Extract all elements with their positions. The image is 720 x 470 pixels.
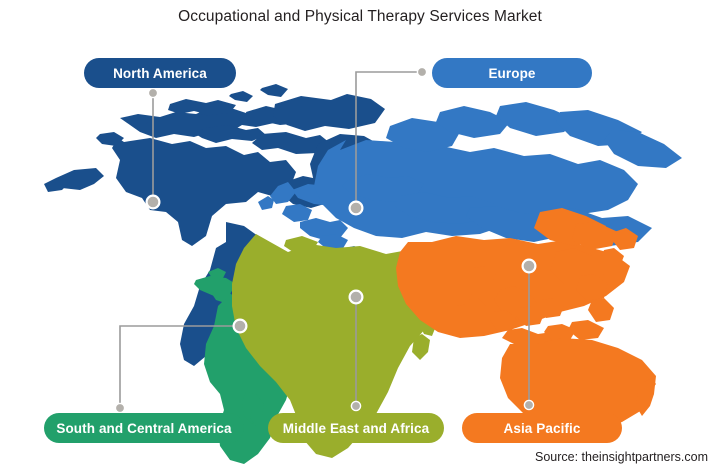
region-label-asia-pacific[interactable]: Asia Pacific — [462, 413, 622, 443]
marker-dot-north-america-map — [147, 196, 160, 209]
market-map-infographic: Occupational and Physical Therapy Servic… — [0, 0, 720, 470]
region-shape-asia-pacific[interactable] — [396, 208, 656, 432]
marker-dot-asia-pacific-map — [523, 260, 536, 273]
marker-dot-south-and-central-america-map — [234, 320, 247, 333]
region-label-middle-east-and-africa[interactable]: Middle East and Africa — [268, 413, 444, 443]
marker-dot-north-america-pill — [148, 88, 157, 97]
marker-dot-europe-map — [350, 202, 363, 215]
source-attribution: Source: theinsightpartners.com — [535, 450, 708, 464]
region-label-south-and-central-america[interactable]: South and Central America — [44, 413, 244, 443]
marker-dot-europe-pill — [417, 67, 426, 76]
region-label-europe[interactable]: Europe — [432, 58, 592, 88]
marker-dot-middle-east-and-africa-map — [350, 291, 363, 304]
region-label-north-america[interactable]: North America — [84, 58, 236, 88]
marker-dot-middle-east-and-africa-pill — [351, 401, 360, 410]
marker-dot-south-and-central-america-pill — [115, 403, 124, 412]
marker-dot-asia-pacific-pill — [524, 400, 533, 409]
